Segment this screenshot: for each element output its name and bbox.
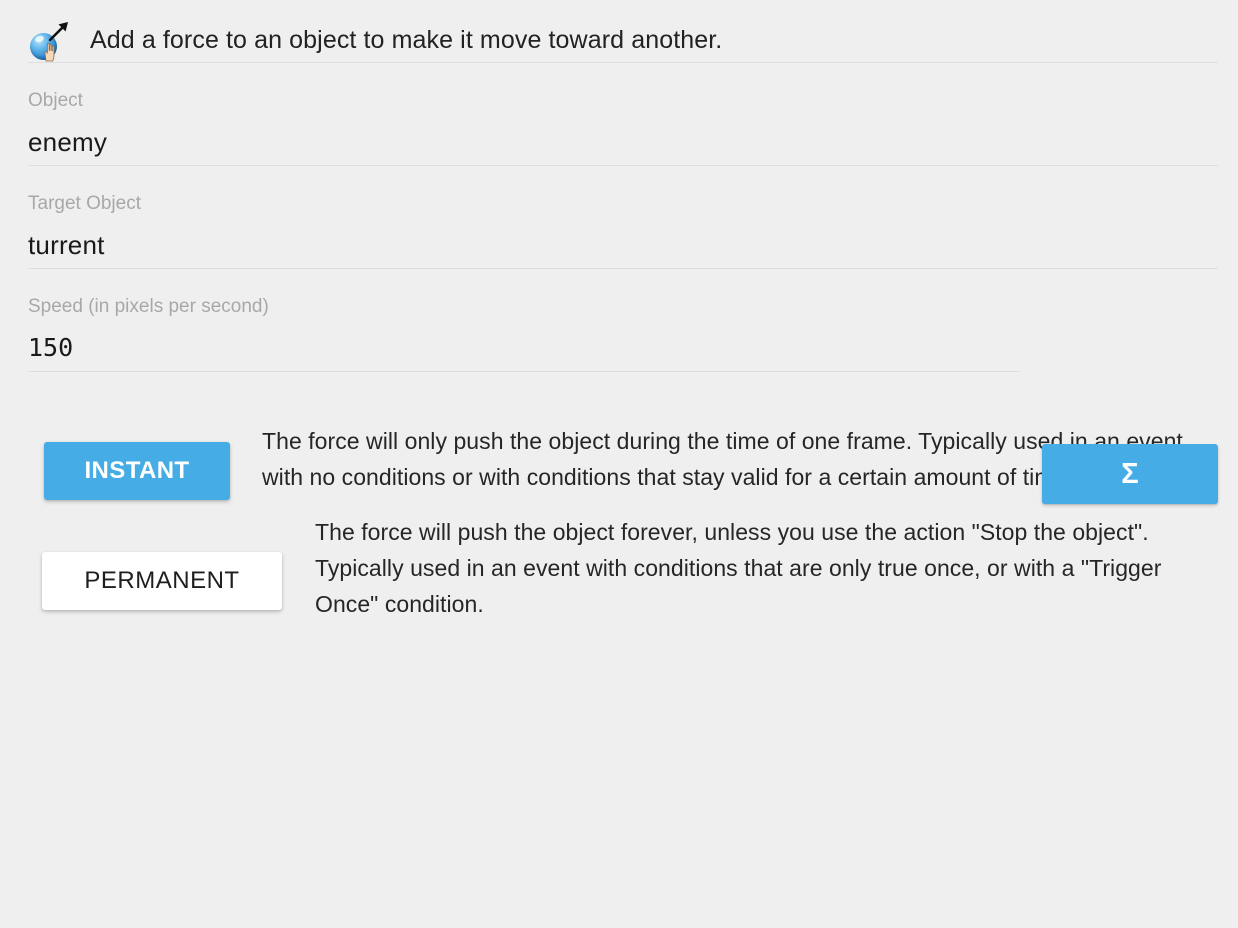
- field-target-object: Target Object turrent: [0, 166, 1238, 269]
- field-object: Object enemy: [0, 63, 1238, 166]
- push-object-force-icon: [28, 18, 72, 62]
- field-object-label: Object: [28, 63, 1218, 113]
- field-speed: Speed (in pixels per second) 150: [0, 269, 1238, 372]
- mode-button-instant[interactable]: INSTANT: [44, 442, 230, 500]
- arrow-up-right-icon: [46, 18, 72, 44]
- action-parameters-panel: Add a force to an object to make it move…: [0, 0, 1238, 928]
- panel-header: Add a force to an object to make it move…: [0, 0, 1238, 62]
- field-object-input[interactable]: enemy: [28, 113, 1218, 165]
- field-speed-input[interactable]: 150: [28, 319, 1218, 371]
- mode-description-permanent: The force will push the object forever, …: [315, 514, 1195, 622]
- hand-cursor-shape: [42, 42, 56, 62]
- page-title: Add a force to an object to make it move…: [90, 25, 722, 55]
- mode-button-permanent[interactable]: PERMANENT: [42, 552, 282, 610]
- field-target-object-input[interactable]: turrent: [28, 216, 1218, 268]
- field-speed-underline: [28, 371, 1020, 372]
- mode-row-permanent: PERMANENT The force will push the object…: [0, 552, 1238, 622]
- expression-editor-button[interactable]: Σ: [1042, 444, 1218, 504]
- field-target-object-label: Target Object: [28, 166, 1218, 216]
- field-speed-label: Speed (in pixels per second): [28, 269, 1218, 319]
